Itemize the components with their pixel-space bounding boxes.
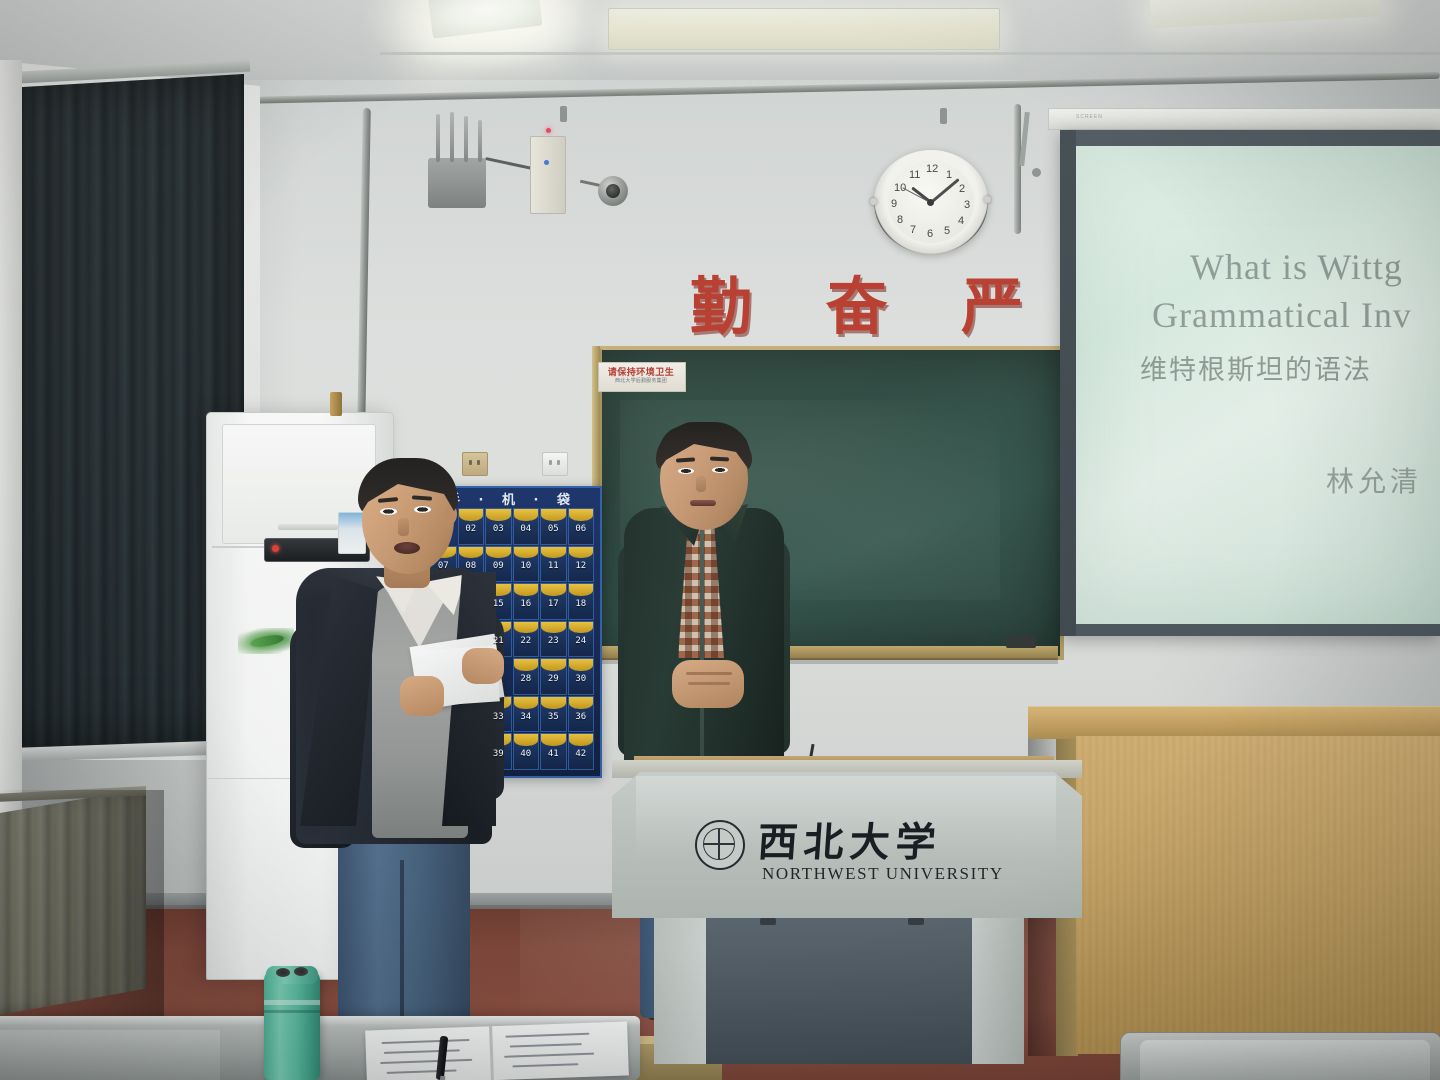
pocket-number: 22 [520, 631, 531, 646]
phone-pocket-16[interactable]: 16 [513, 583, 540, 620]
thermos-band [264, 1000, 320, 1005]
phone-pocket-35[interactable]: 35 [540, 696, 567, 733]
person-right-finger-line [686, 672, 732, 675]
fluorescent-light-2 [608, 8, 1000, 50]
person-left-eye-right [414, 506, 431, 513]
pen-tip [440, 1076, 446, 1080]
antenna-icon [464, 116, 468, 162]
air-conditioner-pipe [330, 392, 342, 416]
slide-title-line1: What is Wittg [1190, 246, 1440, 288]
open-notebook[interactable] [365, 1021, 629, 1080]
phone-pocket-12[interactable]: 12 [568, 546, 595, 583]
wall-slogan: 勤 奋 严 谨 [690, 256, 1120, 326]
phone-pocket-11[interactable]: 11 [540, 546, 567, 583]
classroom-photo: 12 1 2 3 4 5 6 7 8 9 10 11 勤 奋 严 谨 请保持环境… [0, 0, 1440, 1080]
pocket-number: 39 [493, 744, 504, 759]
projection-screen-case [1048, 108, 1440, 130]
handwriting-line [387, 1069, 457, 1073]
clock-numeral: 3 [964, 199, 970, 211]
power-led-icon [272, 545, 279, 552]
phone-pocket-10[interactable]: 10 [513, 546, 540, 583]
person-right-mouth [690, 500, 716, 506]
pocket-number: 18 [575, 594, 586, 609]
screen-case-label: SCREEN [1076, 114, 1103, 120]
phone-pocket-05[interactable]: 05 [540, 508, 567, 545]
phone-pocket-28[interactable]: 28 [513, 658, 540, 695]
handwriting-line [382, 1039, 470, 1044]
podium-leg-left [654, 916, 706, 1064]
phone-pocket-17[interactable]: 17 [540, 583, 567, 620]
conduit-clip [940, 108, 947, 124]
desk-wood-grain [1076, 736, 1440, 1054]
person-right-eye-right [712, 467, 728, 473]
pocket-number: 12 [575, 556, 586, 571]
phone-pocket-23[interactable]: 23 [540, 621, 567, 658]
foreground-desk-lower [0, 1030, 220, 1080]
handwriting-line [380, 1059, 472, 1064]
thermos-opening [276, 968, 290, 977]
wall-outlet-beige[interactable] [462, 452, 488, 476]
university-seal-inner-icon [703, 828, 735, 860]
pocket-number: 02 [465, 519, 476, 534]
clock-numeral: 7 [910, 224, 916, 236]
thermos-band [264, 1010, 320, 1013]
handwriting-line [512, 1063, 578, 1067]
pocket-number: 05 [548, 519, 559, 534]
phone-pocket-18[interactable]: 18 [568, 583, 595, 620]
pocket-number: 24 [575, 631, 586, 646]
conduit-pipe-vertical-right [1014, 104, 1021, 234]
podium-name-english: NORTHWEST UNIVERSITY [762, 864, 1012, 884]
ceiling-seam [380, 52, 1440, 55]
pocket-number: 28 [520, 669, 531, 684]
clock-numeral: 1 [946, 169, 952, 181]
person-right-eye-left [678, 468, 694, 474]
clock-numeral: 6 [927, 228, 933, 240]
pocket-number: 10 [520, 556, 531, 571]
socket-slot [469, 460, 472, 465]
phone-pocket-34[interactable]: 34 [513, 696, 540, 733]
pocket-number: 40 [520, 744, 531, 759]
panel-clip [760, 918, 776, 925]
socket-slot [549, 460, 552, 465]
foreground-desk-edge [0, 1016, 640, 1024]
wall-outlet-white[interactable] [542, 452, 568, 476]
camera-lens-icon [606, 184, 620, 198]
clock-numeral: 4 [958, 215, 964, 227]
pocket-number: 34 [520, 707, 531, 722]
podium-name-chinese: 西北大学 [756, 810, 1020, 868]
pocket-number: 29 [548, 669, 559, 684]
pocket-number: 04 [520, 519, 531, 534]
phone-pocket-30[interactable]: 30 [568, 658, 595, 695]
pocket-number: 30 [575, 669, 586, 684]
clock-center-pin [927, 199, 934, 206]
clock-numeral: 8 [897, 214, 903, 226]
pocket-number: 36 [575, 707, 586, 722]
pocket-number: 11 [548, 556, 559, 571]
socket-slot [557, 460, 560, 465]
pocket-number: 33 [493, 707, 504, 722]
clock-numeral: 12 [926, 163, 938, 175]
phone-pocket-36[interactable]: 36 [568, 696, 595, 733]
air-conditioner-vent [278, 524, 338, 530]
pocket-number: 15 [493, 594, 504, 609]
phone-pocket-24[interactable]: 24 [568, 621, 595, 658]
pocket-number: 07 [438, 556, 449, 571]
handwriting-line [504, 1053, 594, 1058]
clock-numeral: 9 [891, 198, 897, 210]
pocket-number: 03 [493, 519, 504, 534]
antenna-icon [450, 112, 454, 162]
clock-screw [870, 198, 877, 205]
pocket-number: 09 [493, 556, 504, 571]
status-led-icon [546, 128, 551, 133]
socket-slot [477, 460, 480, 465]
wall-hook-knob [1032, 168, 1041, 177]
pocket-number: 41 [548, 744, 559, 759]
person-left-nose [398, 518, 409, 536]
blackboard-eraser[interactable] [1006, 636, 1036, 648]
phone-pocket-06[interactable]: 06 [568, 508, 595, 545]
handwriting-line [510, 1043, 582, 1048]
wall-device-box [530, 136, 566, 214]
phone-pocket-42[interactable]: 42 [568, 733, 595, 770]
clock-screw [984, 196, 991, 203]
clock-numeral: 5 [944, 225, 950, 237]
person-left-hand-right [462, 648, 504, 684]
phone-pocket-04[interactable]: 04 [513, 508, 540, 545]
thermos-cap[interactable] [266, 966, 318, 984]
pocket-number: 06 [575, 519, 586, 534]
pocket-number: 21 [493, 631, 504, 646]
phone-pocket-40[interactable]: 40 [513, 733, 540, 770]
pocket-number: 17 [548, 594, 559, 609]
handwriting-line [505, 1033, 589, 1038]
person-left-eye-left [380, 508, 397, 515]
phone-pocket-29[interactable]: 29 [540, 658, 567, 695]
thermos-flask[interactable] [264, 970, 320, 1080]
slide-author: 林允清 [1326, 460, 1440, 500]
podium-front-panel [706, 918, 972, 1064]
projection-screen-edge [1060, 130, 1076, 636]
slide-title-line2: Grammatical Inv [1152, 294, 1440, 336]
phone-pocket-22[interactable]: 22 [513, 621, 540, 658]
pocket-number: 08 [465, 556, 476, 571]
chair-right-seat [1140, 1040, 1430, 1080]
clock-numeral: 2 [959, 183, 965, 195]
person-left-leg-seam [400, 860, 404, 1042]
signal-jammer [428, 158, 486, 208]
person-right-jacket-zipper [700, 520, 704, 756]
handwriting-line [384, 1049, 460, 1054]
panel-clip [908, 918, 924, 925]
pocket-number: 16 [520, 594, 531, 609]
status-led-icon [544, 160, 549, 165]
podium-leg-right [972, 916, 1024, 1064]
pocket-number: 35 [548, 707, 559, 722]
pocket-number: 23 [548, 631, 559, 646]
person-left-mouth [394, 542, 420, 554]
antenna-icon [478, 120, 482, 162]
person-right-finger-line [688, 682, 730, 685]
phone-pocket-03[interactable]: 03 [485, 508, 512, 545]
thermos-opening [294, 967, 308, 976]
phone-pocket-02[interactable]: 02 [458, 508, 485, 545]
radiator-shadow [0, 790, 164, 1020]
hygiene-sign-line2: 西北大学后勤服务集团 [601, 377, 681, 384]
pocket-number: 42 [575, 744, 586, 759]
desk-top [1028, 706, 1440, 739]
person-left-hand-left [400, 676, 444, 716]
phone-pocket-41[interactable]: 41 [540, 733, 567, 770]
antenna-icon [436, 114, 440, 162]
person-right-nose [696, 476, 706, 492]
slide-title-chinese: 维特根斯坦的语法 [1140, 348, 1440, 387]
clock-numeral: 11 [909, 169, 920, 181]
conduit-clip [560, 106, 567, 122]
